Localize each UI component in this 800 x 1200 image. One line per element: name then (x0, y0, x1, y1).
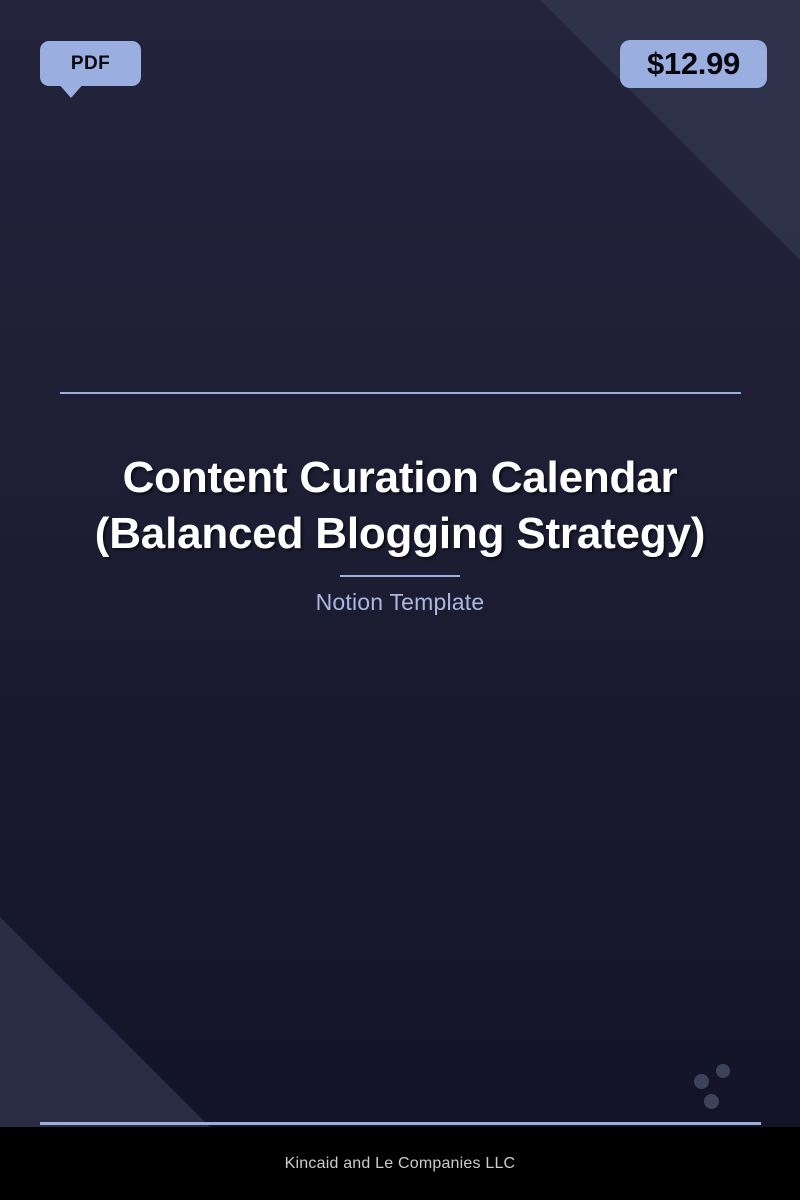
title-block: Content Curation Calendar (Balanced Blog… (0, 392, 800, 616)
footer-bar: Kincaid and Le Companies LLC (0, 1127, 800, 1200)
footer-divider (40, 1122, 761, 1125)
title-divider-top (60, 392, 741, 394)
page-subtitle: Notion Template (0, 589, 800, 616)
product-cover: PDF $12.99 Content Curation Calendar (Ba… (0, 0, 800, 1200)
format-badge-pdf[interactable]: PDF (40, 41, 141, 86)
format-badge-label: PDF (71, 53, 110, 75)
corner-decoration-top-right (540, 0, 800, 260)
subtitle-divider (340, 575, 460, 577)
corner-decoration-bottom-left (0, 917, 210, 1127)
cover-canvas: PDF $12.99 Content Curation Calendar (Ba… (0, 0, 800, 1127)
dot-icon (694, 1074, 709, 1089)
page-title: Content Curation Calendar (Balanced Blog… (0, 450, 800, 562)
dot-icon (716, 1064, 730, 1078)
price-badge[interactable]: $12.99 (620, 40, 767, 88)
price-badge-label: $12.99 (647, 46, 740, 82)
dot-icon (704, 1094, 719, 1109)
footer-company-name: Kincaid and Le Companies LLC (285, 1155, 516, 1173)
